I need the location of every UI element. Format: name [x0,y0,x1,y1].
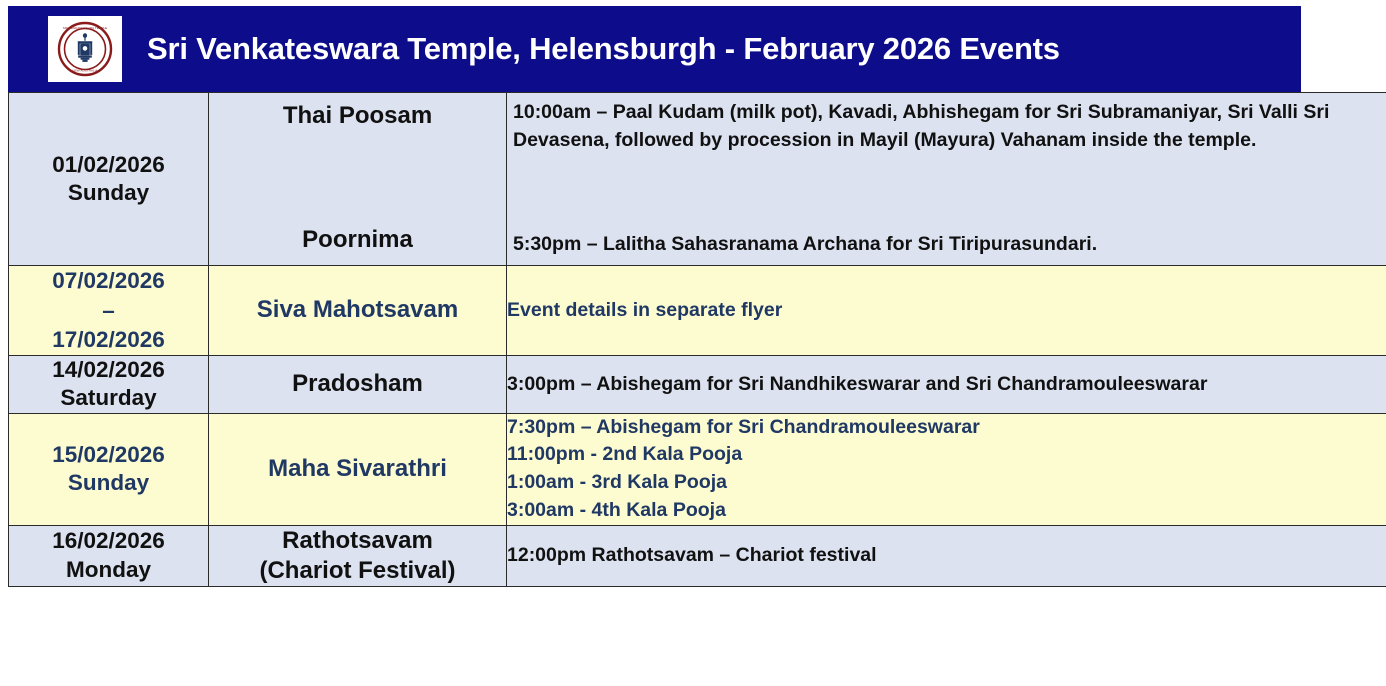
events-table: 01/02/2026 Sunday Thai Poosam Poornima 1… [8,92,1386,587]
svg-text:NSW AUSTRALIA: NSW AUSTRALIA [72,68,98,72]
event-description-cell: Event details in separate flyer [507,266,1386,356]
event-description-secondary: 5:30pm – Lalitha Sahasranama Archana for… [513,231,1386,259]
event-date-cell: 07/02/2026 – 17/02/2026 [9,266,209,356]
event-description: Event details in separate flyer [507,299,782,321]
event-date-cell: 14/02/2026 Saturday [9,356,209,414]
table-row: 14/02/2026 Saturday Pradosham 3:00pm – A… [9,356,1386,414]
event-description-cell: 12:00pm Rathotsavam – Chariot festival [507,525,1386,586]
event-description-cell: 3:00pm – Abishegam for Sri Nandhikeswara… [507,356,1386,414]
temple-deity-emblem-icon: SRI VENKATESWARA TEMPLE NSW AUSTRALIA [56,20,114,78]
event-date: 14/02/2026 Saturday [52,357,165,410]
event-description-cell: 7:30pm – Abishegam for Sri Chandramoulee… [507,413,1386,525]
event-name: Rathotsavam (Chariot Festival) [259,527,455,584]
event-description-primary: 10:00am – Paal Kudam (milk pot), Kavadi,… [513,99,1386,154]
table-row: 15/02/2026 Sunday Maha Sivarathri 7:30pm… [9,413,1386,525]
event-name-cell: Thai Poosam Poornima [209,93,507,266]
event-name: Pradosham [292,370,423,397]
events-flyer-page: SRI VENKATESWARA TEMPLE NSW AUSTRALIA [0,0,1386,686]
event-description: 12:00pm Rathotsavam – Chariot festival [507,544,877,566]
event-name: Maha Sivarathri [268,455,447,482]
event-name-cell: Siva Mahotsavam [209,266,507,356]
table-row: 07/02/2026 – 17/02/2026 Siva Mahotsavam … [9,266,1386,356]
event-date: 16/02/2026 Monday [52,528,165,581]
event-date-cell: 15/02/2026 Sunday [9,413,209,525]
event-date: 01/02/2026 Sunday [52,152,165,205]
event-name-primary: Thai Poosam [283,101,432,131]
svg-text:SRI VENKATESWARA TEMPLE: SRI VENKATESWARA TEMPLE [63,26,107,30]
event-description: 7:30pm – Abishegam for Sri Chandramoulee… [507,416,980,521]
page-title: Sri Venkateswara Temple, Helensburgh - F… [147,31,1060,67]
temple-logo: SRI VENKATESWARA TEMPLE NSW AUSTRALIA [48,16,122,82]
table-row: 16/02/2026 Monday Rathotsavam (Chariot F… [9,525,1386,586]
event-description-cell: 10:00am – Paal Kudam (milk pot), Kavadi,… [507,93,1386,266]
event-name-cell: Pradosham [209,356,507,414]
event-name-secondary: Poornima [302,225,413,255]
event-name-cell: Maha Sivarathri [209,413,507,525]
event-name-cell: Rathotsavam (Chariot Festival) [209,525,507,586]
event-date-cell: 01/02/2026 Sunday [9,93,209,266]
header-banner: SRI VENKATESWARA TEMPLE NSW AUSTRALIA [8,6,1301,92]
event-name: Siva Mahotsavam [257,296,458,323]
table-row: 01/02/2026 Sunday Thai Poosam Poornima 1… [9,93,1386,266]
event-description: 3:00pm – Abishegam for Sri Nandhikeswara… [507,373,1207,395]
event-date: 07/02/2026 – 17/02/2026 [52,268,165,352]
event-date: 15/02/2026 Sunday [52,442,165,495]
event-date-cell: 16/02/2026 Monday [9,525,209,586]
